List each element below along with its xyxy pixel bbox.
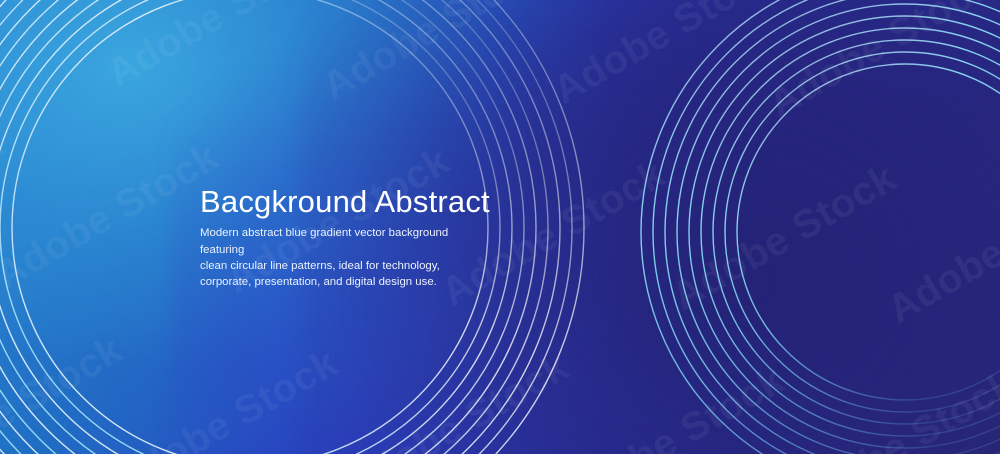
page-title: Bacgkround Abstract	[200, 185, 530, 218]
ring	[725, 52, 1000, 412]
stock-credit-label: Adobe Stock | #184354934	[0, 306, 1, 442]
background-graphic-canvas: Adobe StockAdobe StockAdobe StockAdobe S…	[0, 0, 1000, 454]
ring	[713, 40, 1000, 424]
description-line: Modern abstract blue gradient vector bac…	[200, 225, 492, 257]
description-line: corporate, presentation, and digital des…	[200, 274, 492, 290]
ring	[641, 0, 1000, 454]
description-line: clean circular line patterns, ideal for …	[200, 258, 492, 274]
page-description: Modern abstract blue gradient vector bac…	[200, 225, 492, 290]
ring	[653, 0, 1000, 454]
ring	[737, 64, 1000, 400]
text-block: Bacgkround Abstract Modern abstract blue…	[200, 185, 530, 290]
ring	[665, 0, 1000, 454]
ring	[701, 28, 1000, 436]
ring	[689, 16, 1000, 448]
